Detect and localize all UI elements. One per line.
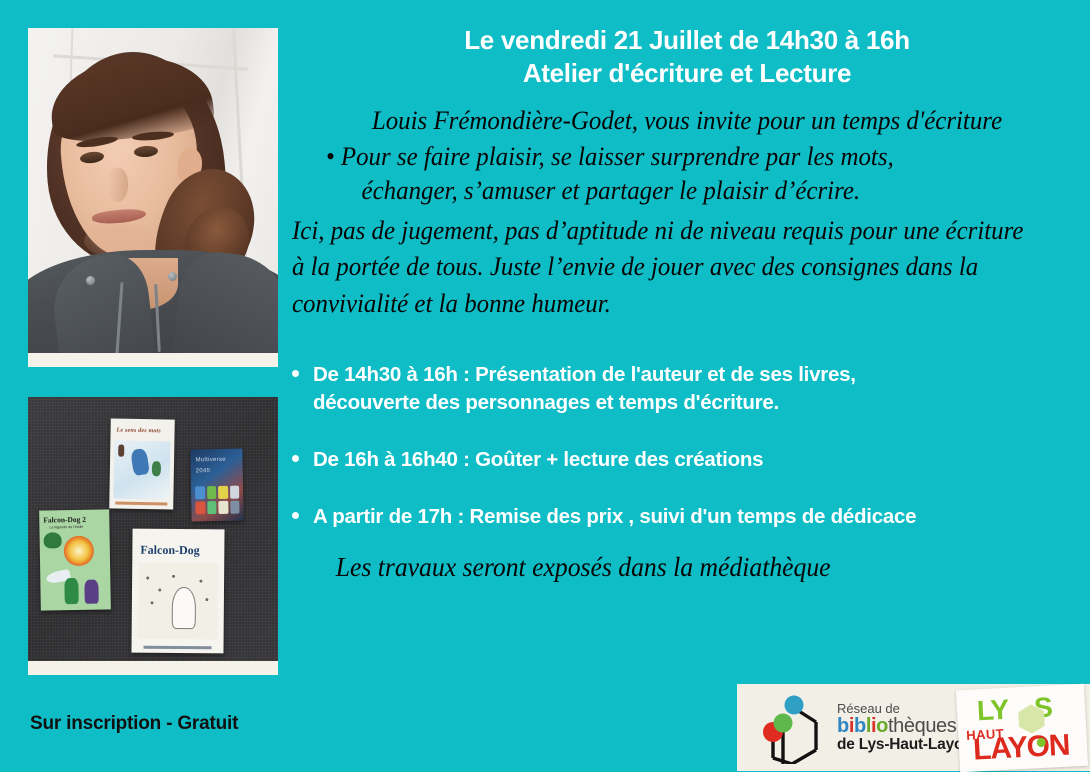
lys-logo-layon-text: LAYON bbox=[972, 729, 1070, 768]
schedule-line-1: De 14h30 à 16h : Présentation de l'auteu… bbox=[313, 361, 1082, 388]
logo-panel: Réseau de bibliothèques de Lys-Haut-Layo… bbox=[737, 684, 1090, 771]
list-item: De 14h30 à 16h : Présentation de l'auteu… bbox=[292, 361, 1082, 415]
lede-text: Louis Frémondière-Godet, vous invite pou… bbox=[316, 104, 1059, 137]
book-figure-2 bbox=[152, 461, 161, 476]
poster-canvas: Le sens des mots Multiverse 2045 bbox=[0, 0, 1090, 771]
intro-bullet-line-2: échanger, s’amuser et partager le plaisi… bbox=[326, 173, 1035, 207]
bullet-dot-icon bbox=[292, 512, 299, 519]
logo-line-bibliotheques: bibliothèques bbox=[837, 716, 973, 737]
book-cover-falcon-dog-2: Falcon-Dog 2 La légende de l'étoile bbox=[39, 509, 111, 610]
phone-app-grid bbox=[195, 486, 239, 515]
headline-line-2: Atelier d'écriture et Lecture bbox=[292, 57, 1082, 90]
book-title-multiverse-year: 2045 bbox=[196, 468, 211, 474]
book-subtitle: La légende de l'étoile bbox=[49, 525, 83, 530]
book-footer-bar bbox=[143, 646, 211, 650]
book-cover-multiverse-2045: Multiverse 2045 bbox=[190, 449, 243, 522]
list-item: A partir de 17h : Remise des prix , suiv… bbox=[292, 503, 1082, 530]
logo-line-reseau: Réseau de bbox=[837, 702, 973, 716]
hexagon-network-icon bbox=[747, 692, 831, 764]
book-art-villain bbox=[84, 580, 98, 604]
book-cover-falcon-dog: Falcon-Dog bbox=[131, 529, 224, 654]
book-title-multiverse: Multiverse bbox=[196, 457, 226, 464]
bullet-dot-icon bbox=[292, 370, 299, 377]
schedule-line-2: découverte des personnages et temps d'éc… bbox=[313, 389, 1082, 416]
bullet-dot-icon: • bbox=[326, 139, 341, 173]
page-title: Le vendredi 21 Juillet de 14h30 à 16h At… bbox=[292, 24, 1082, 91]
books-photo-frame: Le sens des mots Multiverse 2045 bbox=[28, 397, 278, 675]
description-paragraph: Ici, pas de jugement, pas d’aptitude ni … bbox=[292, 212, 1035, 322]
book-figure-3 bbox=[118, 445, 124, 457]
intro-bullet-line-1: Pour se faire plaisir, se laisser surpre… bbox=[341, 141, 894, 171]
schedule-list: De 14h30 à 16h : Présentation de l'auteu… bbox=[292, 361, 1082, 529]
registration-notice: Sur inscription - Gratuit bbox=[30, 713, 290, 735]
schedule-item-text: De 14h30 à 16h : Présentation de l'auteu… bbox=[313, 361, 1082, 415]
lys-logo-inner: LYS HAUT LAYON bbox=[956, 684, 1088, 772]
closing-note: Les travaux seront exposés dans la média… bbox=[292, 552, 1043, 583]
bullet-dot-icon bbox=[292, 455, 299, 462]
book-title-falcon-dog-2: Falcon-Dog 2 bbox=[43, 515, 86, 525]
hoodie-grommet-left bbox=[86, 276, 95, 285]
media-gap bbox=[28, 367, 278, 397]
logo-letter-o1: o bbox=[876, 715, 888, 737]
list-item: De 16h à 16h40 : Goûter + lecture des cr… bbox=[292, 446, 1082, 473]
logo-letter-b2: b bbox=[854, 715, 866, 737]
book-title-falcon-dog: Falcon-Dog bbox=[140, 543, 199, 559]
intro-bullet: •Pour se faire plaisir, se laisser surpr… bbox=[292, 139, 1035, 208]
logo-line-commune: de Lys-Haut-Layon bbox=[837, 737, 973, 753]
book-art-hero bbox=[64, 578, 78, 604]
logo-wordmark: Réseau de bibliothèques de Lys-Haut-Layo… bbox=[837, 702, 973, 753]
left-media-column: Le sens des mots Multiverse 2045 bbox=[28, 28, 278, 675]
schedule-item-text: A partir de 17h : Remise des prix , suiv… bbox=[313, 503, 1082, 530]
logo-letters-rest: thèques bbox=[888, 715, 956, 737]
hoodie-grommet-right bbox=[168, 272, 177, 281]
portrait-photo bbox=[28, 28, 278, 353]
schedule-line-1: A partir de 17h : Remise des prix , suiv… bbox=[313, 503, 1082, 530]
portrait-photo-frame bbox=[28, 28, 278, 367]
book-footer-bar bbox=[115, 502, 167, 506]
lys-haut-layon-logo: LYS HAUT LAYON bbox=[956, 684, 1088, 772]
right-text-column: Le vendredi 21 Juillet de 14h30 à 16h At… bbox=[292, 24, 1082, 583]
headline-line-1: Le vendredi 21 Juillet de 14h30 à 16h bbox=[292, 24, 1082, 57]
lys-text-ly: LY bbox=[976, 694, 1009, 727]
schedule-line-1: De 16h à 16h40 : Goûter + lecture des cr… bbox=[313, 446, 1082, 473]
nose bbox=[108, 168, 128, 202]
book-art-tree bbox=[44, 532, 62, 548]
schedule-item-text: De 16h à 16h40 : Goûter + lecture des cr… bbox=[313, 446, 1082, 473]
logo-letter-b1: b bbox=[837, 715, 849, 737]
bibliotheque-network-icon bbox=[747, 692, 831, 764]
books-photo: Le sens des mots Multiverse 2045 bbox=[28, 397, 278, 661]
book-art-ghost bbox=[172, 587, 196, 629]
book-title-le-sens-des-mots: Le sens des mots bbox=[117, 428, 171, 435]
book-cover-le-sens-des-mots: Le sens des mots bbox=[109, 418, 175, 509]
book-art-sun bbox=[64, 536, 95, 567]
